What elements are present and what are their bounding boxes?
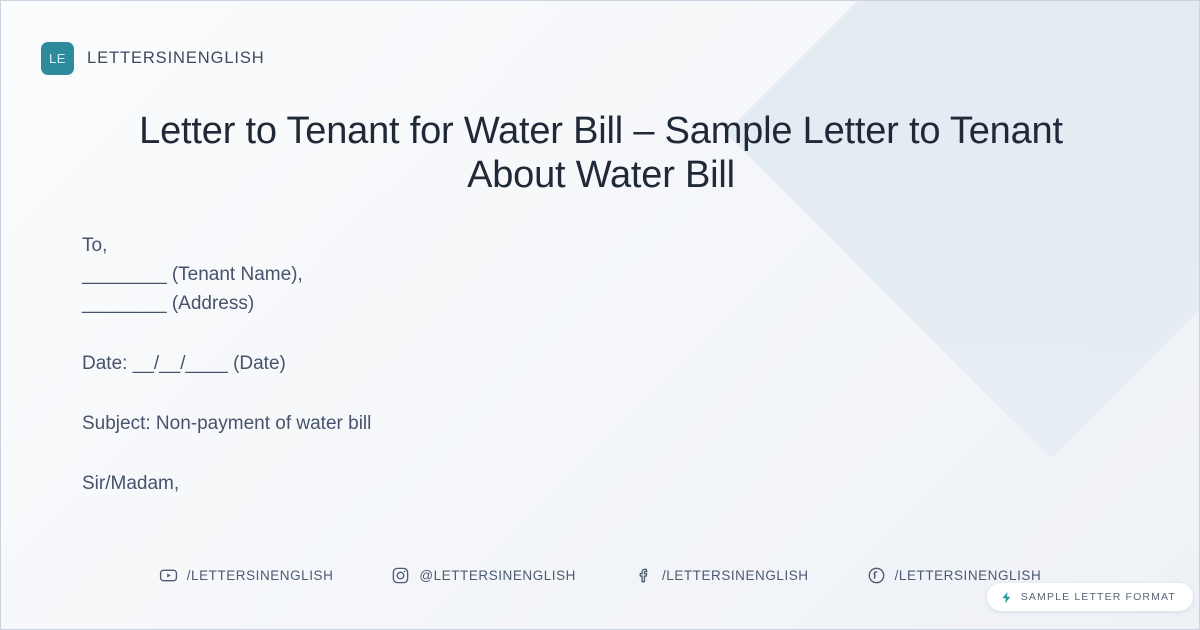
letter-paragraph: To, ________ (Tenant Name), ________ (Ad… xyxy=(82,231,902,318)
instagram-icon xyxy=(391,566,410,585)
brand-name: LETTERSINENGLISH xyxy=(87,49,265,68)
social-link-instagram[interactable]: @LETTERSINENGLISH xyxy=(391,566,576,585)
letter-line-date: Date: __/__/____ (Date) xyxy=(82,349,902,378)
slide-canvas: LE LETTERSINENGLISH Letter to Tenant for… xyxy=(0,0,1200,630)
status-badge-label: SAMPLE LETTER FORMAT xyxy=(1021,591,1176,603)
facebook-icon xyxy=(634,566,653,585)
page-title: Letter to Tenant for Water Bill – Sample… xyxy=(101,109,1101,198)
youtube-icon xyxy=(159,566,178,585)
social-link-youtube[interactable]: /LETTERSINENGLISH xyxy=(159,566,334,585)
letter-line: To, xyxy=(82,231,902,260)
social-handle-instagram: @LETTERSINENGLISH xyxy=(419,568,576,583)
letter-body: To, ________ (Tenant Name), ________ (Ad… xyxy=(82,231,902,498)
letter-line-subject: Subject: Non-payment of water bill xyxy=(82,409,902,438)
social-handle-youtube: /LETTERSINENGLISH xyxy=(187,568,334,583)
brand-header: LE LETTERSINENGLISH xyxy=(41,42,265,75)
letter-paragraph-salutation: Sir/Madam, xyxy=(82,469,902,498)
brand-logo-mark: LE xyxy=(41,42,74,75)
social-handle-facebook: /LETTERSINENGLISH xyxy=(662,568,809,583)
social-link-facebook[interactable]: /LETTERSINENGLISH xyxy=(634,566,809,585)
status-badge[interactable]: SAMPLE LETTER FORMAT xyxy=(987,583,1193,611)
letter-line-salutation: Sir/Madam, xyxy=(82,469,902,498)
letter-line: ________ (Address) xyxy=(82,289,902,318)
pinterest-icon xyxy=(867,566,886,585)
lightning-bolt-icon xyxy=(1000,591,1013,604)
social-handle-pinterest: /LETTERSINENGLISH xyxy=(895,568,1042,583)
letter-line: ________ (Tenant Name), xyxy=(82,260,902,289)
letter-paragraph-date: Date: __/__/____ (Date) xyxy=(82,349,902,378)
letter-paragraph-subject: Subject: Non-payment of water bill xyxy=(82,409,902,438)
